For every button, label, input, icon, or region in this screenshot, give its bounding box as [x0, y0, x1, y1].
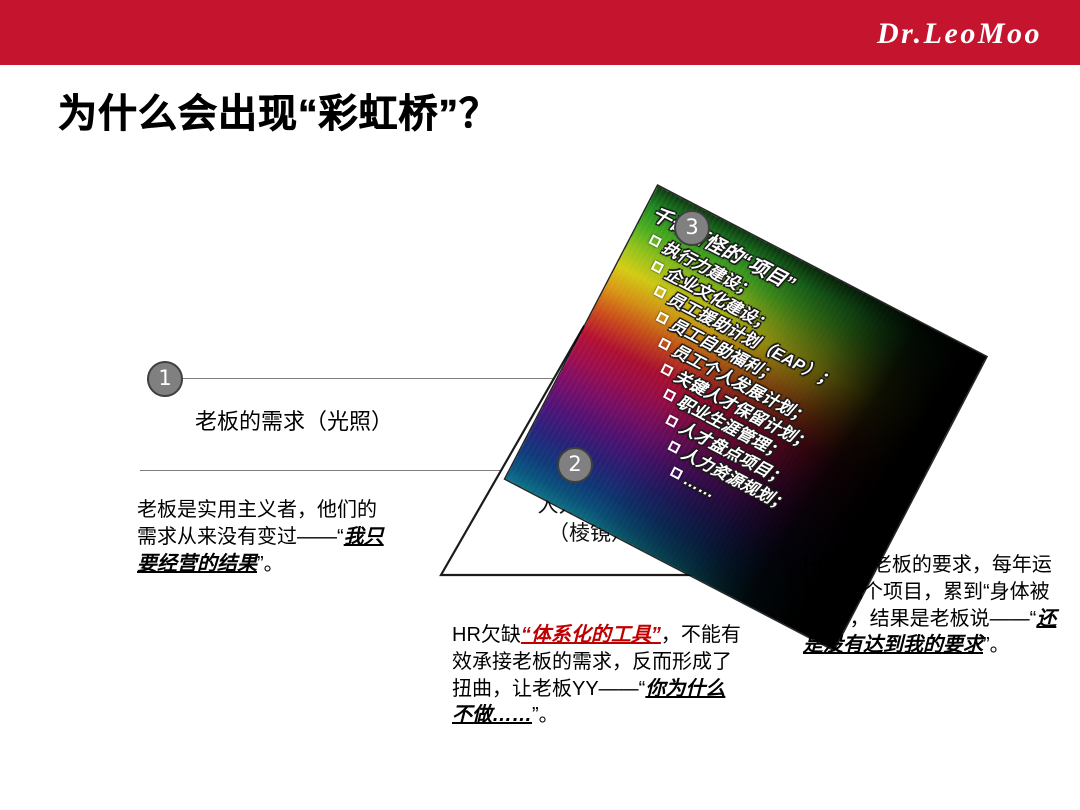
caption-center-emphasis-red: “体系化的工具”	[521, 624, 661, 646]
caption-left-part1: 老板是实用主义者，他们的需求从来没有变过——“	[137, 499, 377, 548]
page-title: 为什么会出现“彩虹桥”？	[58, 83, 499, 139]
caption-center-block: HR欠缺“体系化的工具”，不能有效承接老板的需求，反而形成了扭曲，让老板YY——…	[452, 622, 742, 729]
caption-left-part2: ”。	[257, 553, 284, 575]
brand-logo: Dr.LeoMoo	[877, 17, 1042, 51]
caption-left-block: 老板是实用主义者，他们的需求从来没有变过——“我只要经营的结果”。	[137, 497, 387, 577]
step-badge-2: 2	[557, 447, 593, 483]
caption-center-part1: HR欠缺	[452, 624, 521, 646]
checkbox-square-icon	[649, 234, 662, 247]
checkbox-square-icon	[660, 363, 673, 376]
checkbox-square-icon	[665, 414, 678, 427]
checkbox-square-icon	[668, 440, 681, 453]
caption-right-block: HR按照老板的要求，每年运行十几个项目，累到“身体被掏空”，结果是老板说——“还…	[803, 552, 1063, 659]
step-badge-1: 1	[147, 361, 183, 397]
slide-canvas: Dr.LeoMoo 为什么会出现“彩虹桥”？ 人力资源部 （棱镜） 千奇百怪的“…	[0, 0, 1080, 810]
step-badge-3: 3	[674, 210, 710, 246]
caption-right-part2: ”。	[983, 634, 1010, 656]
caption-right-part1: HR按照老板的要求，每年运行十几个项目，累到“身体被掏空”，结果是老板说——“	[803, 554, 1052, 630]
checkbox-square-icon	[670, 466, 683, 479]
header-bar: Dr.LeoMoo	[0, 0, 1080, 65]
checkbox-square-icon	[656, 311, 669, 324]
checkbox-square-icon	[663, 389, 676, 402]
caption-center-part3: ”。	[532, 704, 559, 726]
checkbox-square-icon	[651, 260, 664, 273]
caption-boss-demand: 老板的需求（光照）	[195, 407, 393, 436]
checkbox-square-icon	[653, 286, 666, 299]
checkbox-square-icon	[658, 337, 671, 350]
